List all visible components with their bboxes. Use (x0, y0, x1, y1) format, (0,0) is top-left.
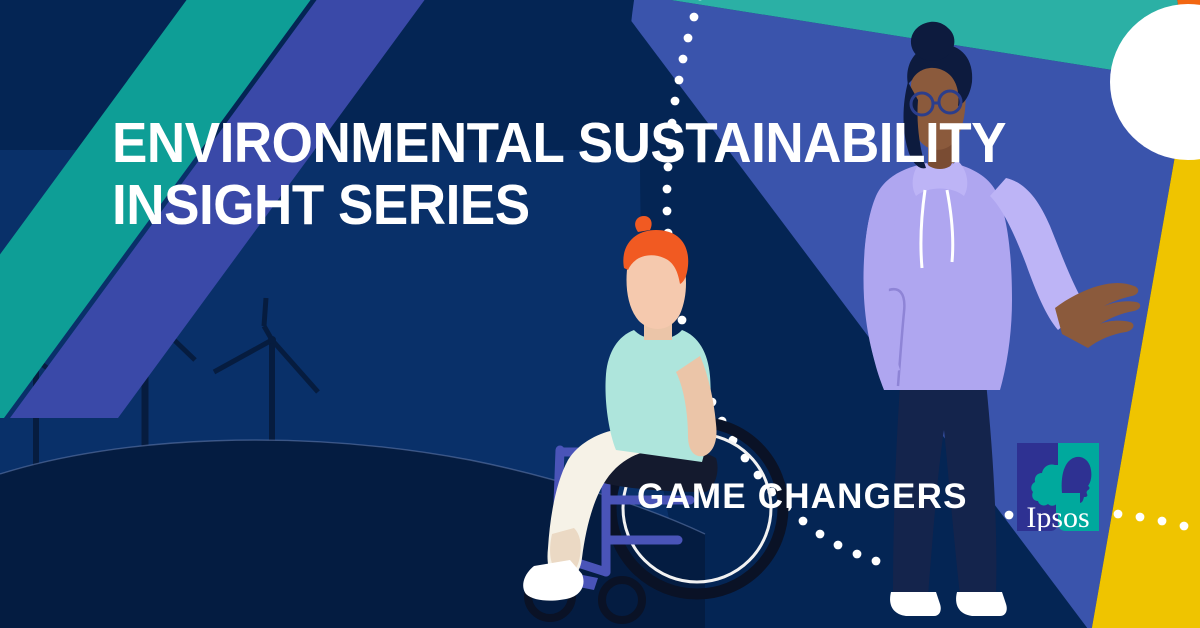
ipsos-logo-shape: Ipsos (1017, 443, 1099, 531)
tagline: GAME CHANGERS (637, 477, 968, 517)
ipsos-banner: ENVIRONMENTAL SUSTAINABILITY INSIGHT SER… (0, 0, 1200, 628)
logo-wordmark: Ipsos (1026, 501, 1089, 531)
wheelchair-user-hair-tuft (635, 216, 651, 232)
woman-shoe-right (956, 592, 1007, 616)
artwork-layer (0, 0, 1200, 628)
woman-shoe-left (890, 592, 941, 616)
ipsos-logo[interactable]: Ipsos (1017, 443, 1099, 531)
